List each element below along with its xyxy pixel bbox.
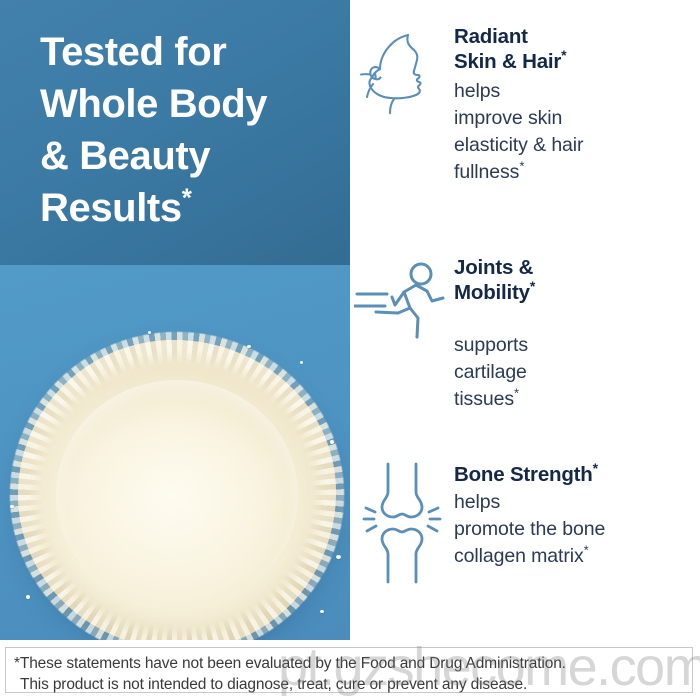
benefit-item-radiant-skin-hair: Radiant Skin & Hair* helps improve skin … [350, 24, 700, 186]
benefit-body-line: tissues* [454, 386, 692, 413]
benefit-title-radiant-skin-hair: Radiant Skin & Hair* [454, 24, 692, 74]
benefit-text-radiant-skin-hair: Radiant Skin & Hair* helps improve skin … [454, 24, 700, 186]
benefit-body-line: fullness* [454, 159, 692, 186]
product-photo-panel [0, 265, 350, 640]
collagen-powder-image [18, 340, 336, 640]
benefit-body-line: collagen matrix* [454, 543, 692, 570]
benefit-title-asterisk: * [593, 460, 598, 476]
powder-speck [247, 345, 251, 348]
headline-panel: Tested for Whole Body & Beauty Results* [0, 0, 350, 265]
headline-line-1: Tested for [40, 26, 336, 78]
benefit-body-asterisk: * [584, 543, 589, 558]
running-person-icon [350, 255, 454, 341]
headline-line-4-text: Results [40, 186, 182, 230]
benefit-body-line: helps [454, 78, 692, 105]
benefit-body-line: helps [454, 489, 692, 516]
benefit-title-line: Joints & [454, 255, 692, 280]
headline-line-4: Results* [40, 182, 336, 234]
benefit-item-joints-mobility: Joints & Mobility* supports cartilage ti… [350, 255, 700, 413]
benefit-title-line: Mobility* [454, 280, 692, 305]
benefit-body-line: improve skin [454, 105, 692, 132]
disclaimer-line-2: This product is not intended to diagnose… [14, 674, 684, 695]
powder-speck [336, 555, 341, 559]
benefit-body-line-text: fullness [454, 161, 519, 183]
benefit-body-asterisk: * [514, 386, 519, 401]
benefit-title-joints-mobility: Joints & Mobility* [454, 255, 692, 305]
powder-speck [320, 610, 324, 613]
benefit-body-bone-strength: helps promote the bone collagen matrix* [454, 489, 692, 570]
headline-asterisk: * [182, 183, 192, 213]
benefit-body-line-text: tissues [454, 388, 514, 410]
left-column: Tested for Whole Body & Beauty Results* [0, 0, 350, 640]
product-benefits-infographic: Tested for Whole Body & Beauty Results* [0, 0, 700, 700]
powder-speck [330, 440, 334, 444]
running-person-icon-svg [354, 261, 450, 341]
face-profile-icon [350, 24, 454, 114]
disclaimer-line-1: *These statements have not been evaluate… [14, 653, 684, 674]
benefit-body-joints-mobility: supports cartilage tissues* [454, 332, 692, 413]
benefit-title-line-text: Skin & Hair [454, 50, 561, 73]
face-profile-icon-svg [359, 28, 445, 114]
benefit-body-line: cartilage [454, 359, 692, 386]
benefit-title-line: Skin & Hair* [454, 49, 692, 74]
powder-speck [26, 595, 30, 599]
benefit-title-asterisk: * [530, 278, 535, 294]
benefit-body-asterisk: * [519, 159, 524, 174]
benefit-body-line-text: collagen matrix [454, 545, 584, 567]
benefit-title-line-text: Mobility [454, 281, 530, 304]
benefit-title-line: Radiant [454, 24, 692, 49]
headline-line-3: & Beauty [40, 130, 336, 182]
benefit-title-asterisk: * [561, 47, 566, 63]
benefit-body-line: supports [454, 332, 692, 359]
benefit-title-line: Bone Strength* [454, 462, 692, 487]
powder-speck [300, 361, 303, 364]
powder-speck [10, 505, 14, 508]
benefit-body-line: promote the bone [454, 516, 692, 543]
fda-disclaimer: *These statements have not been evaluate… [5, 647, 693, 693]
bone-joint-icon-svg [362, 462, 442, 584]
benefit-item-bone-strength: Bone Strength* helps promote the bone co… [350, 462, 700, 584]
benefit-title-bone-strength: Bone Strength* [454, 462, 692, 487]
headline-line-2: Whole Body [40, 78, 336, 130]
powder-speck [148, 331, 151, 334]
benefit-body-radiant-skin-hair: helps improve skin elasticity & hair ful… [454, 78, 692, 186]
benefit-text-joints-mobility: Joints & Mobility* supports cartilage ti… [454, 255, 700, 413]
benefits-column: Radiant Skin & Hair* helps improve skin … [350, 0, 700, 640]
page-title: Tested for Whole Body & Beauty Results* [40, 26, 336, 234]
benefit-body-line: elasticity & hair [454, 132, 692, 159]
bone-joint-icon [350, 462, 454, 584]
benefit-text-bone-strength: Bone Strength* helps promote the bone co… [454, 462, 700, 570]
benefit-title-line-text: Bone Strength [454, 463, 593, 486]
